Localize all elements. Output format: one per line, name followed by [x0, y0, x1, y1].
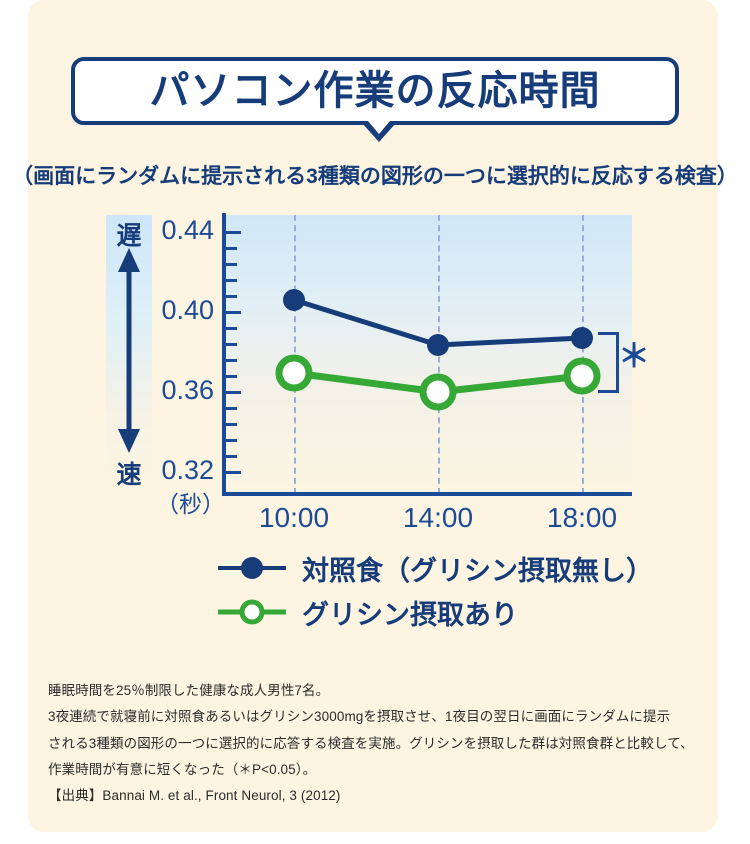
chart-legend: 対照食（グリシン摂取無し） グリシン摂取あり	[216, 550, 676, 638]
y-tick-minor	[226, 295, 237, 298]
y-tick-minor	[226, 439, 237, 442]
y-tick-minor	[226, 263, 237, 266]
y-tick-label-text: 0.32	[161, 455, 214, 486]
legend-marker-open-circle-icon	[216, 598, 288, 626]
plot-background	[224, 215, 632, 494]
footnote: 睡眠時間を25％制限した健康な成人男性7名。 3夜連続で就寝前に対照食あるいはグ…	[48, 678, 698, 810]
footnote-line: 3夜連続で就寝前に対照食あるいはグリシン3000mgを摂取させ、1夜目の翌日に画…	[48, 704, 698, 730]
significance-bracket	[598, 332, 619, 393]
y-tick-0-32	[226, 471, 241, 474]
y-axis-unit-label: （秒）	[156, 485, 218, 519]
x-tick-label-14-00: 14:00	[368, 502, 508, 534]
y-tick-minor	[226, 407, 237, 410]
y-tick-0-36	[226, 391, 241, 394]
y-tick-minor	[226, 455, 237, 458]
y-tick-minor	[226, 247, 237, 250]
speed-slow-label: 遅	[104, 216, 154, 252]
legend-item-glycine: グリシン摂取あり	[216, 594, 676, 630]
x-tick-label-18-00: 18:00	[512, 502, 652, 534]
x-axis-line	[222, 492, 632, 496]
x-tick-label-10-00: 10:00	[224, 502, 364, 534]
y-tick-minor	[226, 423, 237, 426]
legend-label-control: 対照食（グリシン摂取無し）	[302, 549, 653, 588]
legend-marker-filled-circle-icon	[216, 554, 288, 582]
gridline-10-00	[294, 215, 296, 494]
footnote-source: 【出典】Bannai M. et al., Front Neurol, 3 (2…	[48, 783, 698, 809]
y-axis-line	[222, 213, 226, 496]
y-tick-label-text: 0.40	[161, 295, 214, 326]
speed-fast-label: 速	[104, 455, 154, 491]
y-tick-label-text: 0.36	[161, 375, 214, 406]
y-tick-minor	[226, 327, 237, 330]
y-tick-label-text: 0.44	[161, 215, 214, 246]
y-tick-0-44	[226, 231, 241, 234]
footnote-line: 睡眠時間を25％制限した健康な成人男性7名。	[48, 678, 698, 704]
reaction-time-chart: 0.44 0.40 0.36 0.32 （秒） 10:00 14:00 18:0…	[0, 0, 750, 560]
legend-item-control: 対照食（グリシン摂取無し）	[216, 550, 676, 586]
y-tick-minor	[226, 279, 237, 282]
significance-marker: ＊	[618, 340, 650, 372]
y-tick-minor	[226, 343, 237, 346]
footnote-line: される3種類の図形の一つに選択的に応答する検査を実施。グリシンを摂取した群は対照…	[48, 731, 698, 757]
y-tick-minor	[226, 359, 237, 362]
gridline-18-00	[582, 215, 584, 494]
gridline-14-00	[438, 215, 440, 494]
y-tick-0-40	[226, 311, 241, 314]
legend-label-glycine: グリシン摂取あり	[302, 593, 518, 632]
y-tick-minor	[226, 375, 237, 378]
speed-double-arrow-icon	[106, 248, 152, 453]
footnote-line: 作業時間が有意に短くなった（＊P<0.05）。	[48, 757, 698, 783]
